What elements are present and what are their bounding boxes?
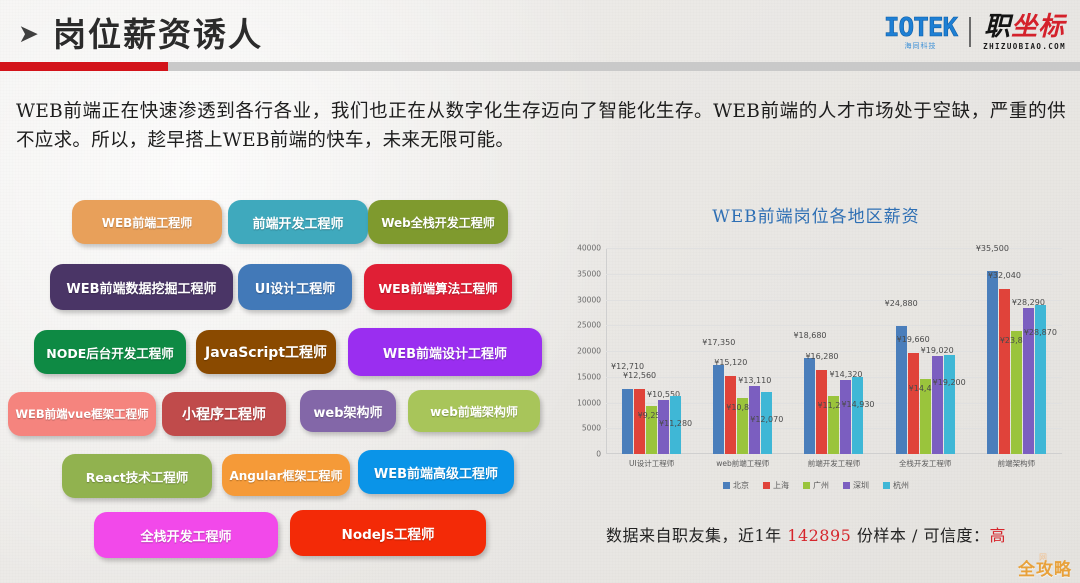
logo-area: IOTEK 海同科技 职坐标 ZHIZUOBIAO.COM xyxy=(884,14,1066,51)
chart-bar: ¥14,320 xyxy=(840,380,851,454)
chart-bar: ¥9,250 xyxy=(646,406,657,454)
chart-bar: ¥12,560 xyxy=(634,389,645,454)
chart-bar-group: ¥18,680¥16,280¥11,280¥14,320¥14,930 xyxy=(788,248,879,454)
zhizuobiao-logo: 职坐标 ZHIZUOBIAO.COM xyxy=(983,14,1066,51)
job-tag[interactable]: 全栈开发工程师 xyxy=(94,512,278,558)
title-block: ➤ 岗位薪资诱人 xyxy=(18,8,263,56)
chart-legend: 北京上海广州深圳杭州 xyxy=(556,480,1076,491)
chart-y-tick-label: 30000 xyxy=(577,295,606,304)
zhizuobiao-logo-domain: ZHIZUOBIAO.COM xyxy=(983,43,1066,51)
chart-bar: ¥19,020 xyxy=(932,356,943,454)
chart-bar: ¥17,350 xyxy=(713,365,724,454)
job-tag[interactable]: Angular框架工程师 xyxy=(222,454,350,496)
iotek-logo-subtitle: 海同科技 xyxy=(905,43,937,50)
job-tag[interactable]: UI设计工程师 xyxy=(238,264,352,310)
job-tag[interactable]: WEB前端设计工程师 xyxy=(348,328,542,376)
chart-bar-group: ¥35,500¥32,040¥23,820¥28,290¥28,870 xyxy=(971,248,1062,454)
chart-bar-value-label: ¥15,120 xyxy=(714,358,747,367)
iotek-logo: IOTEK 海同科技 xyxy=(884,15,957,50)
chart-y-tick-label: 25000 xyxy=(577,321,606,330)
chart-bar: ¥11,280 xyxy=(828,396,839,454)
chart-bar-value-label: ¥16,280 xyxy=(805,352,838,361)
data-source-note: 数据来自职友集，近1年 142895 份样本 / 可信度：高 xyxy=(556,522,1056,546)
job-tag[interactable]: WEB前端高级工程师 xyxy=(358,450,514,494)
source-credibility: 高 xyxy=(990,526,1007,545)
chart-legend-swatch xyxy=(723,482,730,489)
chart-bar: ¥10,850 xyxy=(737,398,748,454)
chart-y-tick-label: 5000 xyxy=(582,424,606,433)
watermark: 网 全攻略 xyxy=(1018,554,1072,579)
chart-legend-label: 广州 xyxy=(813,480,829,491)
chart-x-tick-label: 前端开发工程师 xyxy=(808,458,861,469)
chart-bar-value-label: ¥12,070 xyxy=(750,415,783,424)
chart-bar: ¥19,200 xyxy=(944,355,955,454)
zhizuobiao-char-zhi: 职 xyxy=(984,12,1011,42)
chart-legend-item[interactable]: 广州 xyxy=(803,480,829,491)
chart-y-tick-label: 20000 xyxy=(577,347,606,356)
chart-bar: ¥11,280 xyxy=(670,396,681,454)
chart-bar: ¥18,680 xyxy=(804,358,815,454)
job-tag[interactable]: NODE后台开发工程师 xyxy=(34,330,186,374)
page-title: 岗位薪资诱人 xyxy=(53,8,263,56)
chart-bar-value-label: ¥11,280 xyxy=(659,419,692,428)
chart-y-tick-label: 10000 xyxy=(577,398,606,407)
chart-bar-group: ¥17,350¥15,120¥10,850¥13,110¥12,070 xyxy=(697,248,788,454)
chart-bar-value-label: ¥12,710 xyxy=(611,362,644,371)
header-accent-bar xyxy=(0,62,168,71)
source-sample-count: 142895 xyxy=(787,526,851,545)
chart-x-tick-label: web前端工程师 xyxy=(716,458,769,469)
chart-bar-value-label: ¥19,200 xyxy=(933,378,966,387)
job-tag[interactable]: web架构师 xyxy=(300,390,396,432)
chart-y-tick-label: 35000 xyxy=(577,269,606,278)
job-title-tag-cloud: WEB前端工程师前端开发工程师Web全栈开发工程师WEB前端数据挖掘工程师UI设… xyxy=(0,192,560,575)
arrow-bullet-icon: ➤ xyxy=(18,18,39,47)
chart-legend-item[interactable]: 杭州 xyxy=(883,480,909,491)
logo-separator xyxy=(969,17,971,47)
chart-bar: ¥12,070 xyxy=(761,392,772,454)
chart-bar: ¥12,710 xyxy=(622,389,633,454)
watermark-main-text: 全攻略 xyxy=(1018,562,1072,579)
chart-bar-group: ¥12,710¥12,560¥9,250¥10,550¥11,280 xyxy=(606,248,697,454)
chart-legend-label: 杭州 xyxy=(893,480,909,491)
job-tag[interactable]: WEB前端vue框架工程师 xyxy=(8,392,156,436)
chart-legend-item[interactable]: 上海 xyxy=(763,480,789,491)
chart-legend-swatch xyxy=(763,482,770,489)
chart-legend-swatch xyxy=(803,482,810,489)
chart-legend-label: 上海 xyxy=(773,480,789,491)
job-tag[interactable]: React技术工程师 xyxy=(62,454,212,498)
chart-title: WEB前端岗位各地区薪资 xyxy=(556,196,1076,227)
chart-bar: ¥14,470 xyxy=(920,379,931,454)
chart-bar: ¥14,930 xyxy=(852,377,863,454)
chart-legend-label: 深圳 xyxy=(853,480,869,491)
chart-x-tick-label: 全栈开发工程师 xyxy=(899,458,952,469)
chart-bar: ¥16,280 xyxy=(816,370,827,454)
chart-legend-swatch xyxy=(883,482,890,489)
zhizuobiao-logo-wordmark: 职坐标 xyxy=(984,14,1065,40)
chart-plot-area: 0500010000150002000025000300003500040000… xyxy=(606,248,1062,454)
chart-bar-value-label: ¥24,880 xyxy=(885,299,918,308)
chart-x-tick-label: 前端架构师 xyxy=(998,458,1036,469)
chart-bar-value-label: ¥13,110 xyxy=(738,376,771,385)
chart-y-tick-label: 40000 xyxy=(577,244,606,253)
job-tag[interactable]: JavaScript工程师 xyxy=(196,330,336,374)
chart-legend-label: 北京 xyxy=(733,480,749,491)
chart-bar: ¥15,120 xyxy=(725,376,736,454)
job-tag[interactable]: Web全栈开发工程师 xyxy=(368,200,508,244)
job-tag[interactable]: WEB前端数据挖掘工程师 xyxy=(50,264,233,310)
chart-bar: ¥32,040 xyxy=(999,289,1010,454)
chart-legend-swatch xyxy=(843,482,850,489)
slide-header: ➤ 岗位薪资诱人 IOTEK 海同科技 职坐标 ZHIZUOBIAO.COM xyxy=(0,0,1080,84)
chart-bar: ¥23,820 xyxy=(1011,331,1022,454)
zhizuobiao-char-zuobiao: 坐标 xyxy=(1011,12,1065,42)
chart-bar-value-label: ¥19,020 xyxy=(921,346,954,355)
chart-bar-value-label: ¥19,660 xyxy=(897,335,930,344)
chart-bar-value-label: ¥18,680 xyxy=(793,331,826,340)
job-tag[interactable]: 小程序工程师 xyxy=(162,392,286,436)
chart-legend-item[interactable]: 深圳 xyxy=(843,480,869,491)
chart-y-tick-label: 0 xyxy=(596,450,606,459)
salary-chart-panel: WEB前端岗位各地区薪资 050001000015000200002500030… xyxy=(556,196,1076,516)
job-tag[interactable]: web前端架构师 xyxy=(408,390,540,432)
chart-bar: ¥35,500 xyxy=(987,271,998,454)
chart-bar-value-label: ¥14,930 xyxy=(841,400,874,409)
source-prefix: 数据来自职友集，近1年 xyxy=(606,526,787,545)
chart-x-tick-label: UI设计工程师 xyxy=(629,458,674,469)
chart-bar-value-label: ¥28,870 xyxy=(1024,328,1057,337)
chart-bar-value-label: ¥35,500 xyxy=(976,244,1009,253)
iotek-logo-wordmark: IOTEK xyxy=(884,15,957,41)
chart-bar-value-label: ¥12,560 xyxy=(623,371,656,380)
chart-bar: ¥28,870 xyxy=(1035,305,1046,454)
chart-bar: ¥19,660 xyxy=(908,353,919,454)
job-tag[interactable]: WEB前端工程师 xyxy=(72,200,222,244)
chart-legend-item[interactable]: 北京 xyxy=(723,480,749,491)
intro-paragraph: WEB前端正在快速渗透到各行各业，我们也正在从数字化生存迈向了智能化生存。WEB… xyxy=(16,98,1066,155)
chart-bar-value-label: ¥17,350 xyxy=(702,338,735,347)
chart-bar-value-label: ¥32,040 xyxy=(988,271,1021,280)
job-tag[interactable]: 前端开发工程师 xyxy=(228,200,368,244)
chart-bar-group: ¥24,880¥19,660¥14,470¥19,020¥19,200 xyxy=(880,248,971,454)
chart-y-tick-label: 15000 xyxy=(577,372,606,381)
source-middle: 份样本 / 可信度： xyxy=(851,526,989,545)
job-tag[interactable]: WEB前端算法工程师 xyxy=(364,264,512,310)
chart-bar: ¥24,880 xyxy=(896,326,907,454)
job-tag[interactable]: NodeJs工程师 xyxy=(290,510,486,556)
